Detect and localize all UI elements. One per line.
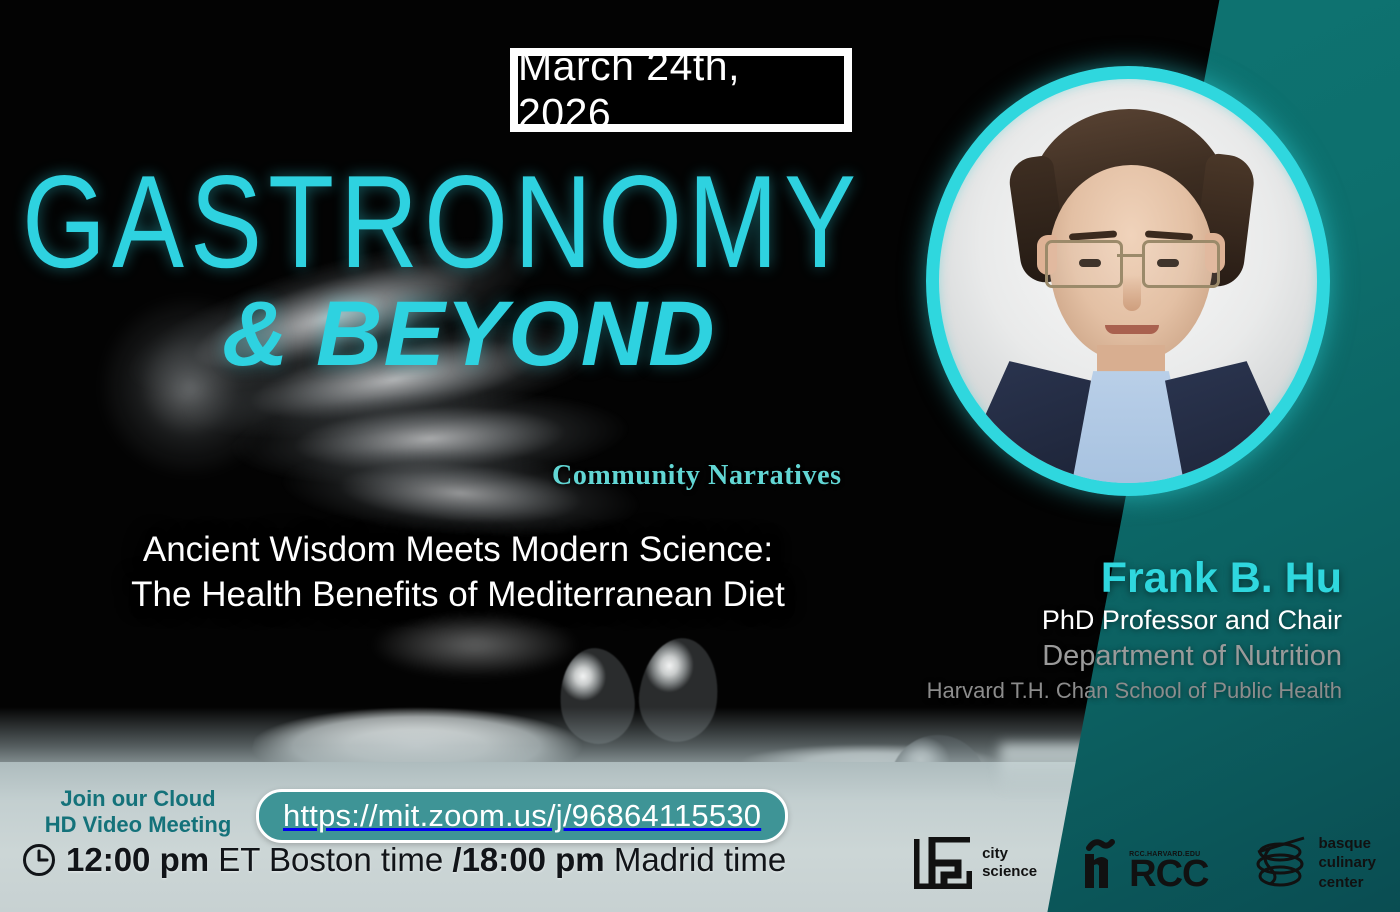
speaker-department: Department of Nutrition <box>782 638 1342 675</box>
jacket-right <box>1165 361 1301 483</box>
logo-city-science[interactable]: city science <box>914 837 1037 889</box>
event-time-text: 12:00 pm ET Boston time /18:00 pm Madrid… <box>66 841 786 879</box>
rcc-wordmark: RCC.HARVARD.EDU RCC <box>1129 851 1208 890</box>
talk-title-line-1: Ancient Wisdom Meets Modern Science: <box>28 528 888 573</box>
bcc-line-1: basque <box>1318 834 1376 854</box>
city-science-wordmark: city science <box>982 845 1037 880</box>
time-boston-label: ET Boston time <box>209 841 452 878</box>
speaker-info: Frank B. Hu PhD Professor and Chair Depa… <box>782 556 1342 705</box>
city-science-line-1: city <box>982 845 1037 863</box>
time-boston-value: 12:00 pm <box>66 841 209 878</box>
event-date-inner-border: March 24th, 2026 <box>515 53 847 127</box>
series-label: Community Narratives <box>552 460 842 492</box>
glasses-bridge <box>1117 254 1143 257</box>
clock-icon <box>22 843 56 877</box>
join-meeting-label: Join our Cloud HD Video Meeting <box>22 786 254 839</box>
portrait-ring <box>926 66 1330 496</box>
join-meeting-label-line-1: Join our Cloud <box>22 786 254 812</box>
speaker-organization: Harvard T.H. Chan School of Public Healt… <box>782 676 1342 705</box>
city-science-line-2: science <box>982 863 1037 881</box>
bcc-line-3: center <box>1318 873 1376 893</box>
talk-title-line-2: The Health Benefits of Mediterranean Die… <box>28 573 888 618</box>
bcc-line-2: culinary <box>1318 853 1376 873</box>
time-madrid-label: Madrid time <box>605 841 787 878</box>
lens-right <box>1142 240 1220 288</box>
logo-basque-culinary-center[interactable]: basque culinary center <box>1252 834 1376 893</box>
time-separator: / <box>452 841 461 878</box>
speaker-portrait <box>908 20 1322 520</box>
city-science-mark-icon <box>914 837 972 889</box>
poster-title-secondary: & BEYOND <box>222 288 716 380</box>
speaker-role: PhD Professor and Chair <box>782 603 1342 638</box>
zoom-meeting-url: https://mit.zoom.us/j/96864115530 <box>283 798 761 834</box>
logo-rcc[interactable]: RCC.HARVARD.EDU RCC <box>1081 836 1208 890</box>
jacket-left <box>955 361 1091 483</box>
speaker-name: Frank B. Hu <box>782 556 1342 601</box>
rcc-acronym: RCC <box>1129 859 1208 890</box>
poster-title-primary: GASTRONOMY <box>22 156 862 288</box>
event-poster: March 24th, 2026 GASTRONOMY & BEYOND Com… <box>0 0 1400 912</box>
zoom-meeting-link[interactable]: https://mit.zoom.us/j/96864115530 <box>256 789 788 843</box>
event-date-text: March 24th, 2026 <box>518 43 844 137</box>
basque-culinary-whisk-icon <box>1252 836 1308 890</box>
nose <box>1123 275 1141 311</box>
lens-left <box>1045 240 1123 288</box>
event-date-box: March 24th, 2026 <box>510 48 852 132</box>
sponsor-logos: city science RCC.HARVARD.EDU RCC <box>914 834 1376 893</box>
talk-title: Ancient Wisdom Meets Modern Science: The… <box>28 528 888 618</box>
join-meeting-label-line-2: HD Video Meeting <box>22 812 254 838</box>
time-madrid-value: 18:00 pm <box>462 841 605 878</box>
avatar <box>973 99 1283 479</box>
event-time-row: 12:00 pm ET Boston time /18:00 pm Madrid… <box>22 841 786 879</box>
mouth <box>1105 325 1159 334</box>
basque-culinary-wordmark: basque culinary center <box>1318 834 1376 893</box>
rcc-enye-icon <box>1081 836 1123 890</box>
